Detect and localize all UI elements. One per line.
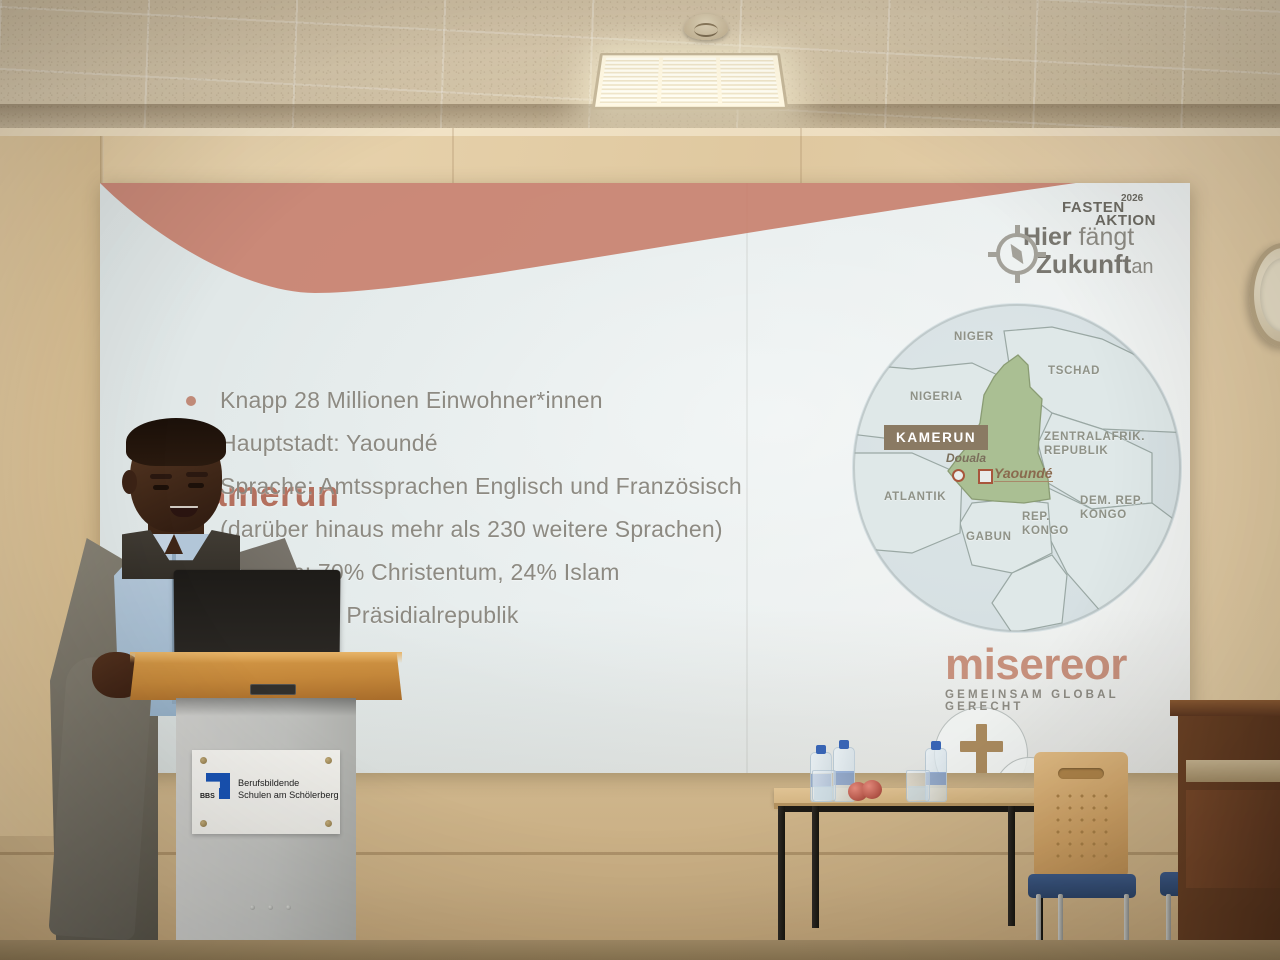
plaque-line-1: Berufsbildende	[238, 777, 299, 789]
bullet-point-marker	[186, 396, 196, 406]
map-label-dem-rep-kongo-2: KONGO	[1080, 509, 1127, 521]
floor	[0, 940, 1280, 960]
cameroon-map: NIGER TSCHAD NIGERIA ZENTRALAFRIK. REPUB…	[852, 303, 1182, 633]
map-capital-yaounde-label: Yaoundé	[994, 465, 1053, 482]
map-label-gabun: GABUN	[966, 531, 1012, 543]
map-city-douala-label: Douala	[946, 451, 986, 465]
map-label-republik: REPUBLIK	[1044, 445, 1108, 457]
slogan-zukunft: Zukunft	[1036, 249, 1131, 279]
stacking-chair[interactable]	[1028, 752, 1136, 960]
slide-line-population: Knapp 28 Millionen Einwohner*innen	[220, 379, 900, 422]
piano-keyboard	[1186, 760, 1280, 782]
map-label-dem-rep-kongo-1: DEM. REP.	[1080, 495, 1144, 507]
map-label-zentralafrik: ZENTRALAFRIK.	[1044, 431, 1145, 443]
compass-point-s	[1015, 271, 1020, 283]
misereor-logo: misereor GEMEINSAM GLOBAL GERECHT	[945, 643, 1185, 713]
map-label-niger: NIGER	[954, 331, 994, 343]
bottle-cap	[839, 740, 849, 749]
eye-right	[188, 483, 204, 488]
map-label-rep-kongo-1: REP.	[1022, 511, 1050, 523]
bottle-cap	[931, 741, 941, 750]
slogan-faengt: fängt	[1079, 223, 1135, 251]
clock-face	[1260, 258, 1280, 332]
plaque-line-2: Schulen am Schölerberg	[238, 789, 339, 801]
fastenaktion-year: 2026	[1121, 193, 1143, 204]
chair-perforations	[1052, 790, 1112, 862]
plaque-screw	[200, 820, 207, 827]
light-segment	[661, 58, 719, 104]
map-label-tschad: TSCHAD	[1048, 365, 1100, 377]
compass-point-w	[988, 252, 1000, 257]
ear	[122, 470, 137, 494]
light-segment	[720, 58, 780, 104]
chair-seat-cushion	[1028, 874, 1136, 898]
eye-left	[153, 485, 169, 490]
drinking-glass[interactable]	[906, 770, 930, 802]
plaque-screw	[325, 757, 332, 764]
misereor-wordmark: misereor	[945, 643, 1185, 687]
plaque-screw	[200, 757, 207, 764]
light-segment	[599, 58, 659, 104]
eyebrow-left	[150, 474, 172, 479]
auditorium-photo: FASTEN 2026 AKTION Hier fängt Zukunftan …	[0, 0, 1280, 960]
ceiling-light-panel	[592, 53, 789, 109]
plaque-screw	[325, 820, 332, 827]
compass-point-e	[1034, 252, 1046, 257]
table-leg	[778, 806, 785, 960]
bottle-cap	[816, 745, 826, 754]
lectern-body-shadow	[176, 698, 356, 716]
map-label-atlantik: ATLANTIK	[884, 491, 946, 503]
bbs-logo-shape-1	[206, 773, 230, 789]
bbs-logo-text: BBS	[200, 793, 215, 800]
lectern-desktop-highlight	[130, 652, 402, 663]
fastenaktion-logo: FASTEN 2026 AKTION Hier fängt Zukunftan	[990, 195, 1190, 287]
drinking-glass[interactable]	[812, 770, 836, 802]
table-leg	[1008, 806, 1015, 926]
side-table-apron	[781, 806, 1039, 812]
map-label-kamerun-badge: KAMERUN	[884, 425, 988, 450]
map-label-rep-kongo-2: KONGO	[1022, 525, 1069, 537]
lectern-cable-slot	[250, 684, 296, 695]
table-leg	[812, 806, 819, 928]
hair	[126, 418, 226, 466]
smoke-detector-icon	[684, 14, 728, 40]
wall-top-trim	[0, 128, 1280, 136]
slogan-an: an	[1131, 256, 1153, 278]
cross-horizontal-bar	[960, 741, 1003, 752]
piano-lid	[1170, 700, 1280, 716]
compass-icon	[996, 233, 1038, 275]
chair-handle-slot	[1058, 768, 1104, 779]
map-capital-marker	[978, 469, 993, 484]
misereor-tagline: GEMEINSAM GLOBAL GERECHT	[945, 689, 1185, 713]
compass-point-n	[1015, 225, 1020, 237]
fastenaktion-slogan-line2: Zukunftan	[1036, 249, 1154, 280]
bbs-logo-shape-2	[219, 788, 230, 799]
lectern-indicator-lights	[250, 905, 294, 910]
map-city-douala-dot	[952, 469, 965, 482]
apple[interactable]	[862, 780, 882, 799]
map-label-nigeria: NIGERIA	[910, 391, 963, 403]
fastenaktion-slogan-line1: Hier fängt	[1023, 223, 1134, 252]
eyebrow-right	[186, 472, 208, 477]
piano-front-panel	[1186, 790, 1280, 888]
